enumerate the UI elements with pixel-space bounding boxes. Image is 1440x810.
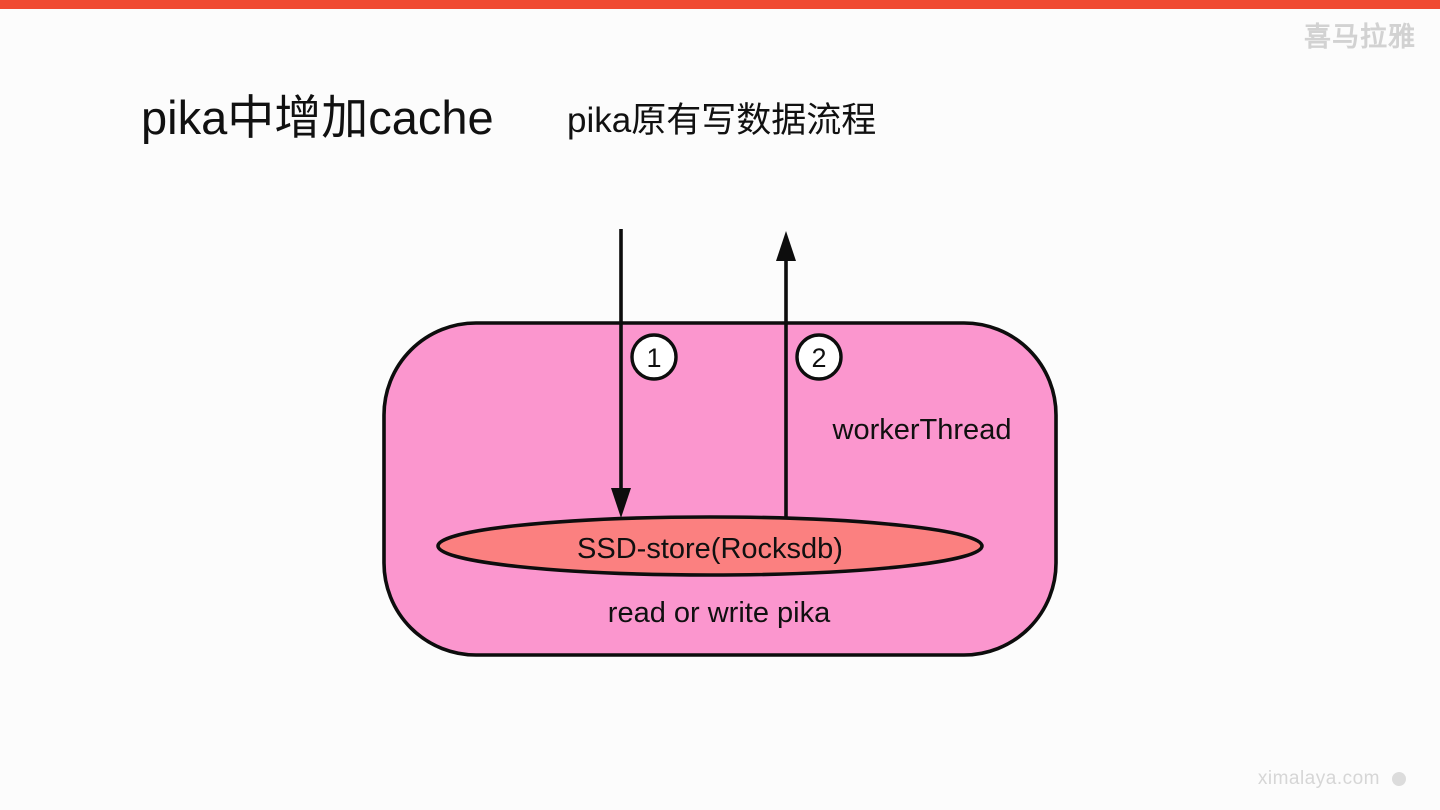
worker-thread-label: workerThread	[832, 414, 1012, 446]
step-badge-2-label: 2	[811, 343, 826, 373]
flow-diagram: 1 2 workerThread SSD-store(Rocksdb) read…	[0, 0, 1440, 810]
slide-canvas: 喜马拉雅 ximalaya.com pika中增加cache pika原有写数据…	[0, 0, 1440, 810]
read-write-pika-label: read or write pika	[608, 597, 831, 629]
ssd-store-label: SSD-store(Rocksdb)	[577, 533, 843, 565]
step-badge-1-label: 1	[646, 343, 661, 373]
arrow-2-head	[776, 231, 796, 261]
